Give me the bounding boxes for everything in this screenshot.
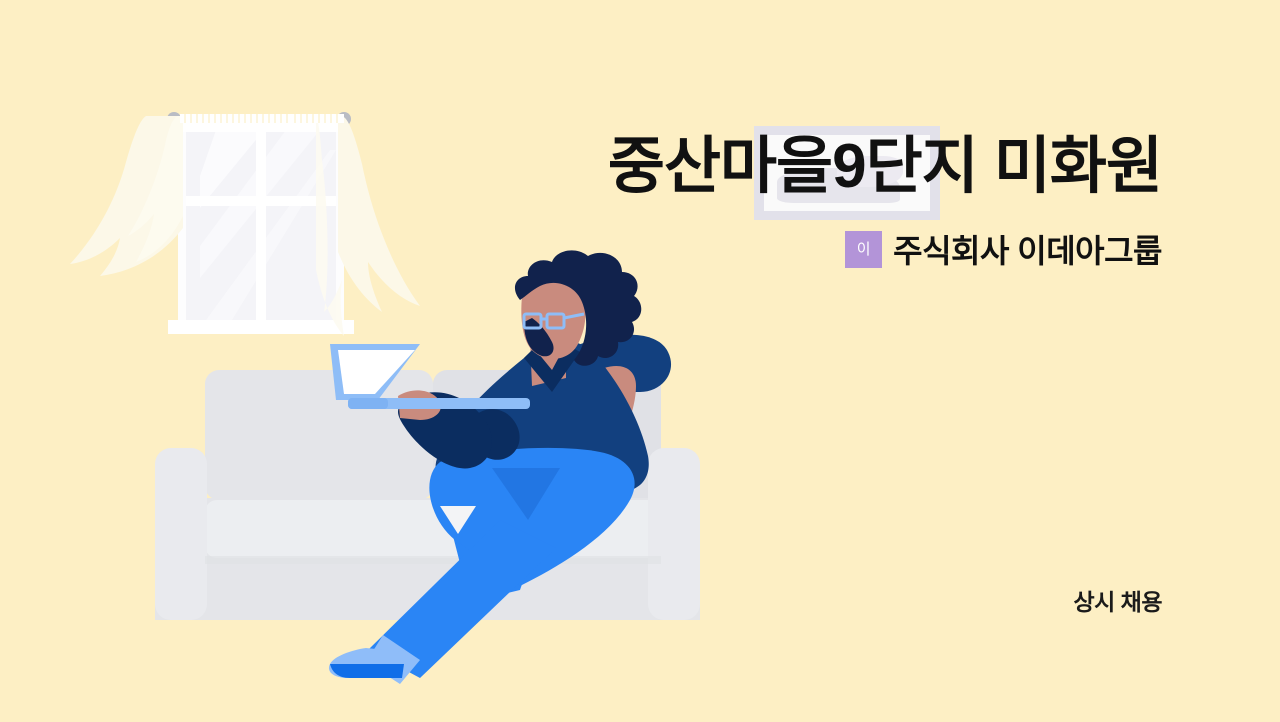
company-name: 주식회사 이데아그룹 [893, 226, 1162, 272]
page-title: 중산마을9단지 미화원 [608, 120, 1162, 214]
status-badge: 상시 채용 [1073, 583, 1162, 617]
company-logo-badge: 이 [845, 231, 882, 268]
company-row[interactable]: 이 주식회사 이데아그룹 [402, 226, 1162, 272]
illustration-svg [0, 0, 760, 722]
poster-text-block: 중산마을9단지 미화원 이 주식회사 이데아그룹 [402, 120, 1162, 272]
job-posting-poster: 중산마을9단지 미화원 이 주식회사 이데아그룹 상시 채용 [0, 0, 1280, 722]
illustration-person-on-sofa [0, 0, 760, 722]
title-row: 중산마을9단지 미화원 [402, 120, 1162, 214]
